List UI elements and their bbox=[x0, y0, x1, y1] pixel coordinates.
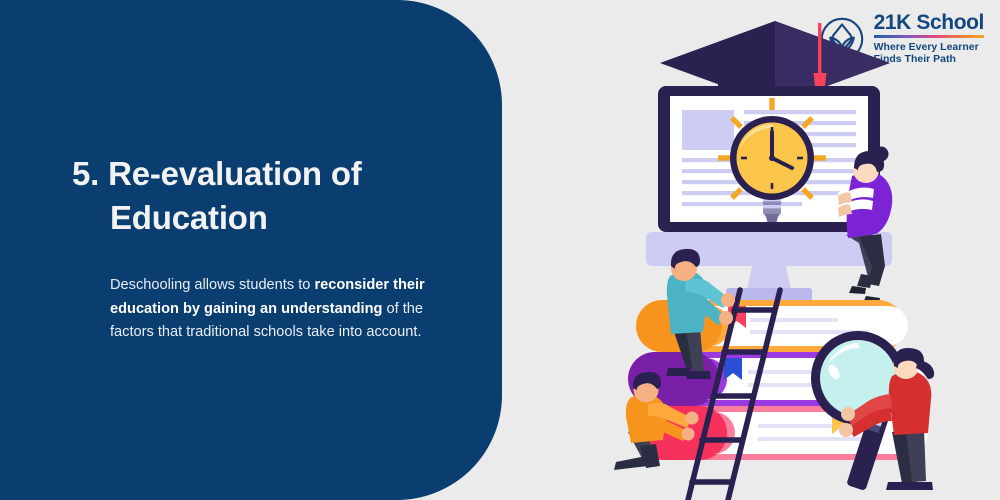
education-reevaluation-illustration bbox=[600, 0, 1000, 500]
page-title: 5. Re-evaluation ofEducation bbox=[72, 152, 472, 240]
body-paragraph: Deschooling allows students to reconside… bbox=[110, 274, 470, 345]
blue-content-panel bbox=[0, 0, 502, 500]
body-text-part-1: Deschooling allows students to bbox=[110, 277, 314, 293]
page-title-line-2: Education bbox=[72, 196, 472, 240]
page-title-line-1: 5. Re-evaluation of bbox=[72, 155, 362, 192]
text-block: 5. Re-evaluation ofEducation Deschooling… bbox=[72, 152, 472, 240]
clock-lightbulb bbox=[730, 116, 814, 200]
slide-canvas: 5. Re-evaluation ofEducation Deschooling… bbox=[0, 0, 1000, 500]
illustration-svg bbox=[600, 0, 1000, 500]
